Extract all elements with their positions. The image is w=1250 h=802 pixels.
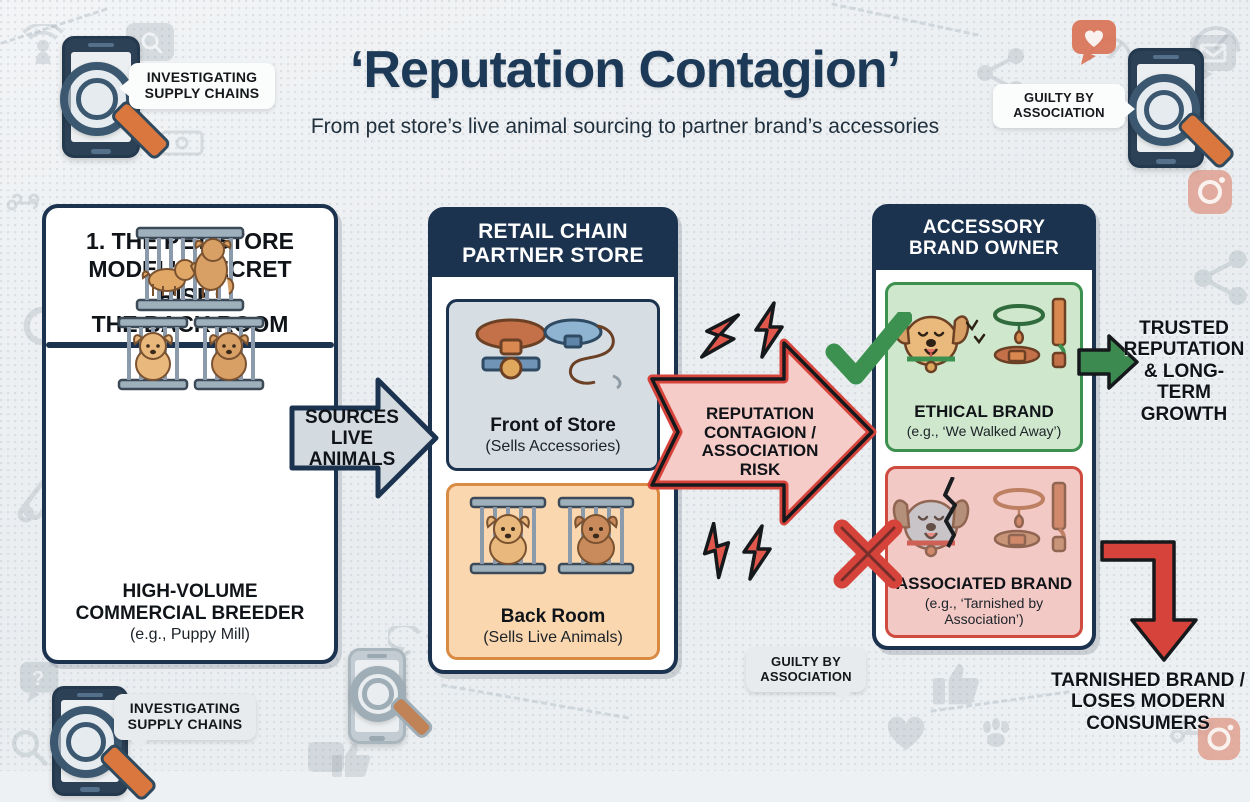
badge-label: GUILTY BY ASSOCIATION <box>746 648 866 692</box>
bone-icon <box>6 190 40 216</box>
paw-icon <box>976 716 1016 752</box>
happy-dog-collars-icon <box>888 285 1080 379</box>
card-title: HIGH-VOLUME COMMERCIAL BREEDER <box>52 581 328 624</box>
card-front-of-store[interactable]: Front of Store (Sells Accessories) <box>446 299 660 471</box>
badge-label: GUILTY BY ASSOCIATION <box>993 84 1125 128</box>
instagram-icon <box>1186 168 1234 216</box>
svg-text:?: ? <box>32 668 44 690</box>
badge-label: INVESTIGATING SUPPLY CHAINS <box>129 63 275 109</box>
badge-guilty-by-association-top: GUILTY BY ASSOCIATION <box>993 84 1125 128</box>
card-subtitle: (Sells Accessories) <box>455 438 651 456</box>
outcome-negative-label: TARNISHED BRAND / LOSES MODERN CONSUMERS <box>1046 670 1250 734</box>
collar-leash-icon <box>449 302 657 394</box>
card-front-of-store-caption: Front of Store (Sells Accessories) <box>455 415 651 456</box>
card-title: ASSOCIATED BRAND <box>894 574 1074 593</box>
card-title: Back Room <box>455 606 651 627</box>
card-subtitle: (Sells Live Animals) <box>455 629 651 647</box>
card-associated-brand-caption: ASSOCIATED BRAND (e.g., ‘Tarnished by As… <box>894 574 1074 627</box>
cracked-dog-collars-icon <box>888 469 1080 565</box>
caged-puppies-icon <box>449 486 657 580</box>
panel-brand-owner-header: ACCESSORY BRAND OWNER <box>876 208 1092 270</box>
arrow-tarnished-brand <box>1096 520 1220 670</box>
check-mark-icon <box>824 312 912 392</box>
card-back-room-caption: Back Room (Sells Live Animals) <box>455 606 651 647</box>
search-icon <box>8 726 50 768</box>
badge-investigating-supply-chains-bottom: INVESTIGATING SUPPLY CHAINS <box>114 694 256 740</box>
card-commercial-breeder-caption: HIGH-VOLUME COMMERCIAL BREEDER (e.g., Pu… <box>52 581 328 644</box>
badge-label: INVESTIGATING SUPPLY CHAINS <box>114 694 256 740</box>
dashed-line-decor <box>441 684 629 720</box>
thumbs-up-icon <box>930 660 984 708</box>
card-title: Front of Store <box>455 415 651 436</box>
heart-icon <box>886 716 926 752</box>
card-title: ETHICAL BRAND <box>894 402 1074 421</box>
lightning-bolt-icon <box>748 300 788 360</box>
card-subtitle: (e.g., ‘Tarnished by Association’) <box>894 595 1074 627</box>
badge-guilty-by-association-bottom: GUILTY BY ASSOCIATION <box>746 648 866 692</box>
card-commercial-breeder[interactable]: HIGH-VOLUME COMMERCIAL BREEDER (e.g., Pu… <box>46 342 334 348</box>
outcome-positive-label: TRUSTED REPUTATION & LONG-TERM GROWTH <box>1118 318 1250 425</box>
magnifier-icon <box>350 666 406 722</box>
magnifier-icon <box>50 706 122 778</box>
dashed-line-decor <box>831 2 978 36</box>
lightning-bolt-icon <box>696 522 736 580</box>
badge-investigating-supply-chains-top: INVESTIGATING SUPPLY CHAINS <box>129 63 275 109</box>
infographic-canvas: ? <box>0 0 1250 771</box>
panel-retail-partner-header: RETAIL CHAIN PARTNER STORE <box>432 211 674 277</box>
card-subtitle: (e.g., Puppy Mill) <box>52 626 328 644</box>
card-subtitle: (e.g., ‘We Walked Away’) <box>894 423 1074 439</box>
lightning-bolt-icon <box>736 524 776 582</box>
card-ethical-brand-caption: ETHICAL BRAND (e.g., ‘We Walked Away’) <box>894 402 1074 439</box>
cross-mark-icon <box>830 516 906 592</box>
card-back-room[interactable]: Back Room (Sells Live Animals) <box>446 483 660 660</box>
card-ethical-brand[interactable]: ETHICAL BRAND (e.g., ‘We Walked Away’) <box>885 282 1083 452</box>
panel-retail-partner[interactable]: RETAIL CHAIN PARTNER STORE <box>428 207 678 674</box>
arrow-sources-label: SOURCES LIVE ANIMALS <box>296 408 408 471</box>
lightning-bolt-icon <box>700 306 740 366</box>
card-associated-brand[interactable]: ASSOCIATED BRAND (e.g., ‘Tarnished by As… <box>885 466 1083 638</box>
share-icon <box>1192 248 1250 306</box>
arrow-contagion-label: REPUTATION CONTAGION / ASSOCIATION RISK <box>682 405 838 480</box>
